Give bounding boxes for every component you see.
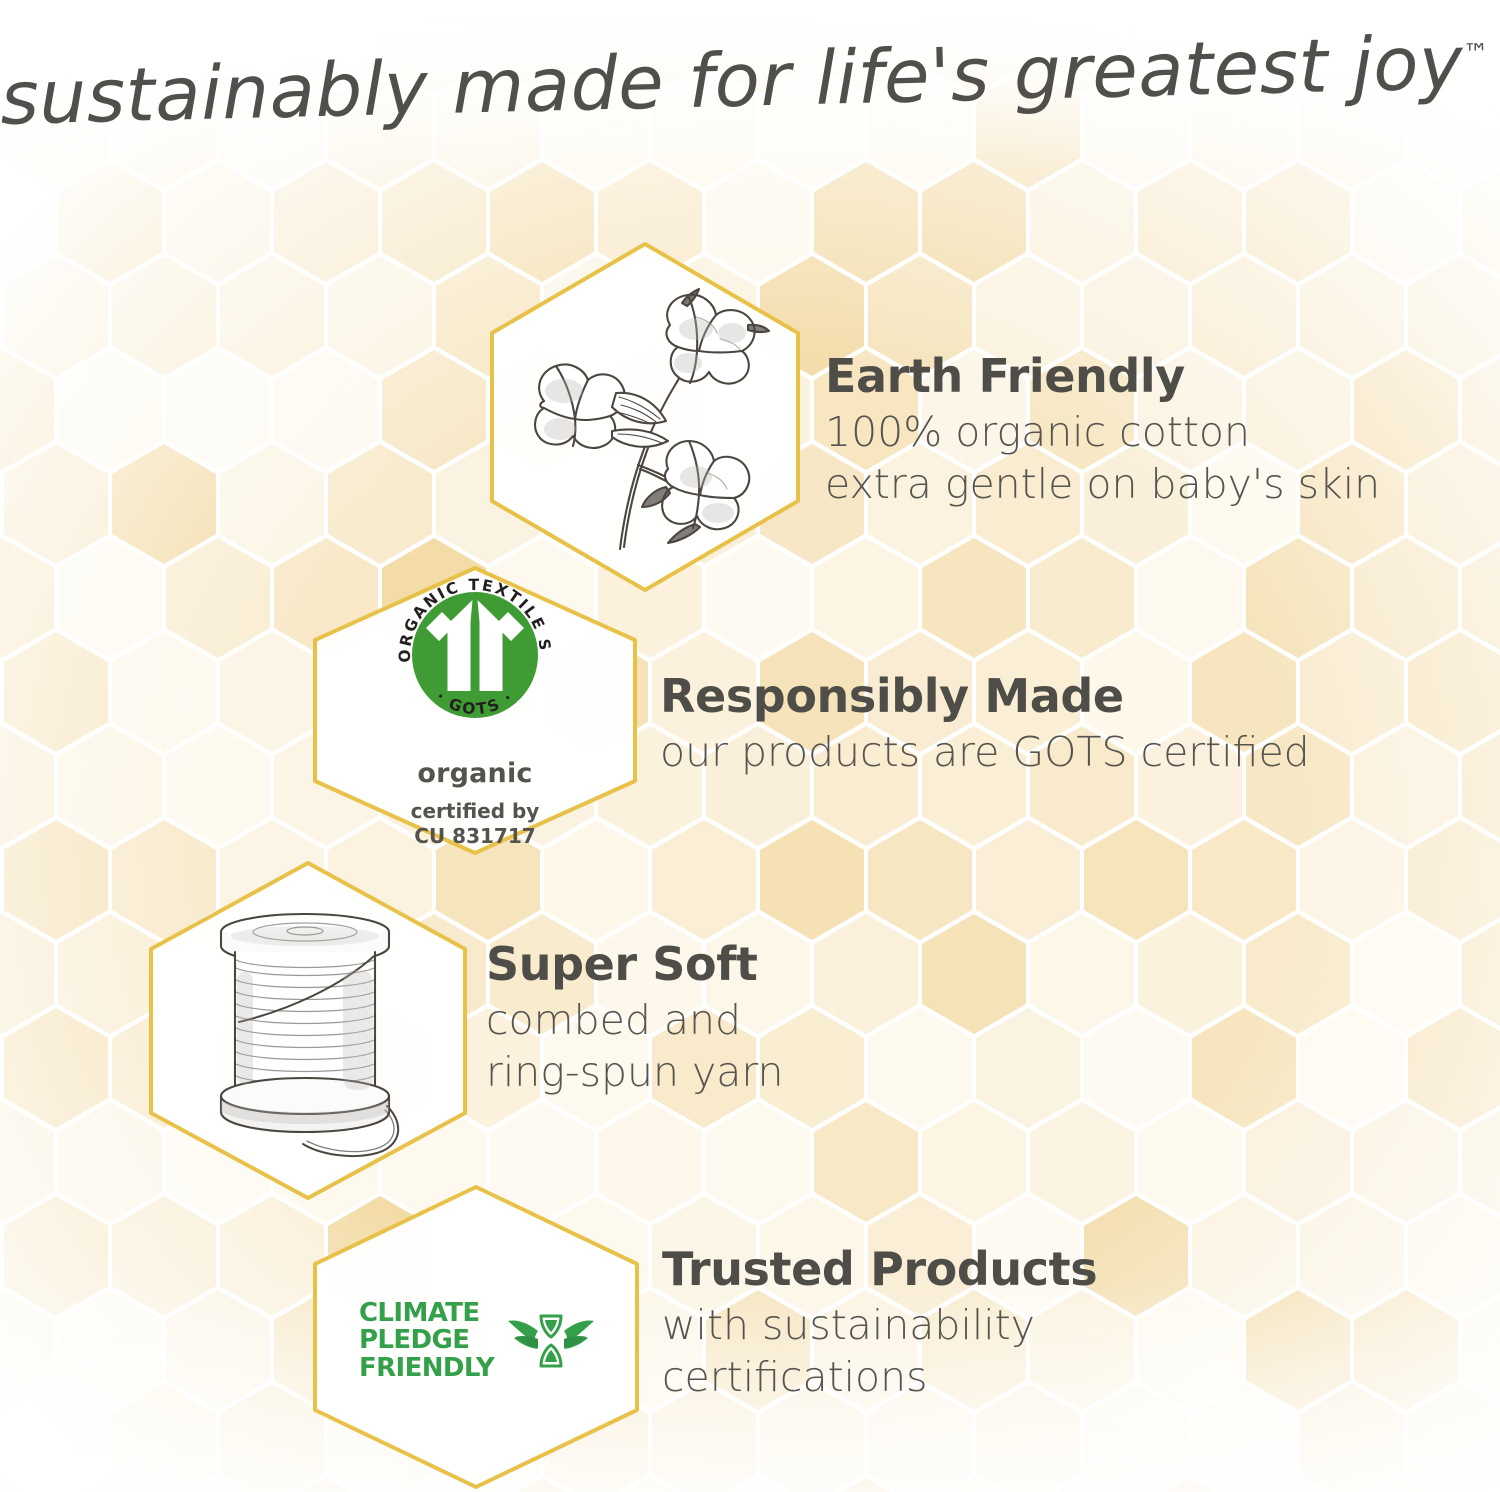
honeycomb-cell — [4, 820, 108, 940]
honeycomb-cell — [4, 256, 108, 376]
feature-title: Trusted Products — [662, 1245, 1097, 1295]
feature-line: ring-spun yarn — [486, 1046, 784, 1098]
climate-pledge-line-3: FRIENDLY — [359, 1355, 494, 1383]
gots-license-number: CU 831717 — [411, 824, 540, 849]
gots-organic-label: organic — [417, 758, 532, 789]
honeycomb-cell — [1354, 726, 1458, 846]
honeycomb-cell — [1084, 1196, 1188, 1316]
honeycomb-cell — [4, 444, 108, 564]
honeycomb-cell — [382, 162, 486, 282]
feature-text-responsibly-made: Responsibly Made our products are GOTS c… — [660, 672, 1310, 778]
honeycomb-cell — [1138, 1290, 1242, 1410]
honeycomb-cell — [922, 1102, 1026, 1222]
feature-line: extra gentle on baby's skin — [825, 458, 1380, 510]
honeycomb-cell — [1408, 820, 1500, 940]
honeycomb-cell — [1408, 444, 1500, 564]
honeycomb-cell — [1408, 632, 1500, 752]
honeycomb-cell — [1030, 914, 1134, 1034]
honeycomb-cell — [220, 256, 324, 376]
honeycomb-cell — [166, 538, 270, 658]
feature-line: our products are GOTS certified — [660, 726, 1310, 778]
thread-spool-illustration — [191, 900, 427, 1162]
cotton-branch-illustration — [520, 281, 770, 553]
honeycomb-cell — [1246, 162, 1350, 282]
honeycomb-cell — [166, 162, 270, 282]
honeycomb-cell — [1354, 1290, 1458, 1410]
honeycomb-cell — [1138, 1102, 1242, 1222]
feature-title: Super Soft — [486, 940, 784, 990]
feature-line: combed and — [486, 994, 784, 1046]
honeycomb-cell — [1246, 538, 1350, 658]
honeycomb-cell — [166, 726, 270, 846]
honeycomb-cell — [220, 632, 324, 752]
honeycomb-cell — [112, 444, 216, 564]
honeycomb-cell — [274, 162, 378, 282]
honeycomb-cell — [58, 1290, 162, 1410]
honeycomb-cell — [1354, 914, 1458, 1034]
feature-text-super-soft: Super Soft combed and ring-spun yarn — [486, 940, 784, 1099]
honeycomb-cell — [922, 538, 1026, 658]
feature-text-trusted-products: Trusted Products with sustainability cer… — [662, 1245, 1097, 1404]
climate-pledge-friendly-logo: CLIMATE PLEDGE FRIENDLY — [359, 1300, 594, 1383]
honeycomb-cell — [1192, 820, 1296, 940]
honeycomb-cell — [1408, 1196, 1500, 1316]
honeycomb-cell — [1408, 1008, 1500, 1128]
honeycomb-cell — [4, 1384, 108, 1492]
honeycomb-cell — [1354, 162, 1458, 282]
honeycomb-cell — [1084, 1008, 1188, 1128]
honeycomb-cell — [220, 1196, 324, 1316]
honeycomb-cell — [58, 726, 162, 846]
honeycomb-cell — [814, 914, 918, 1034]
honeycomb-cell — [328, 256, 432, 376]
honeycomb-cell — [274, 350, 378, 470]
honeycomb-cell — [1030, 538, 1134, 658]
honeycomb-cell — [112, 632, 216, 752]
honeycomb-cell — [652, 820, 756, 940]
honeycomb-cell — [1246, 914, 1350, 1034]
honeycomb-cell — [976, 1008, 1080, 1128]
gots-certified-by-label: certified by — [411, 799, 540, 824]
honeycomb-cell — [1192, 1008, 1296, 1128]
honeycomb-cell — [1300, 1384, 1404, 1492]
feature-hex-responsibly-made: GLOBAL ORGANIC TEXTILE STANDARD · GOTS ·… — [310, 563, 640, 858]
honeycomb-cell — [706, 1102, 810, 1222]
feature-hex-super-soft — [145, 858, 472, 1203]
honeycomb-cell — [1300, 820, 1404, 940]
feature-title: Responsibly Made — [660, 672, 1310, 722]
feature-hex-trusted-products: CLIMATE PLEDGE FRIENDLY — [310, 1182, 643, 1492]
honeycomb-cell — [1408, 256, 1500, 376]
honeycomb-cell — [58, 538, 162, 658]
feature-hex-earth-friendly — [484, 238, 806, 596]
winged-hourglass-icon — [508, 1311, 594, 1371]
honeycomb-cell — [868, 820, 972, 940]
honeycomb-cell — [220, 444, 324, 564]
honeycomb-cell — [58, 162, 162, 282]
honeycomb-cell — [1300, 632, 1404, 752]
honeycomb-cell — [1030, 1102, 1134, 1222]
honeycomb-cell — [382, 350, 486, 470]
honeycomb-cell — [922, 914, 1026, 1034]
honeycomb-cell — [166, 350, 270, 470]
honeycomb-cell — [976, 820, 1080, 940]
honeycomb-cell — [1192, 1196, 1296, 1316]
climate-pledge-line-2: PLEDGE — [359, 1327, 494, 1355]
honeycomb-cell — [1138, 162, 1242, 282]
honeycomb-cell — [4, 1008, 108, 1128]
honeycomb-cell — [328, 444, 432, 564]
honeycomb-cell — [112, 256, 216, 376]
honeycomb-cell — [1192, 1384, 1296, 1492]
honeycomb-cell — [1138, 538, 1242, 658]
honeycomb-cell — [1246, 1102, 1350, 1222]
honeycomb-cell — [1084, 1384, 1188, 1492]
honeycomb-cell — [868, 1008, 972, 1128]
honeycomb-cell — [1138, 914, 1242, 1034]
gots-certification-logo: GLOBAL ORGANIC TEXTILE STANDARD · GOTS ·… — [384, 564, 566, 849]
honeycomb-cell — [1246, 1290, 1350, 1410]
trademark-symbol: ™ — [1463, 39, 1490, 70]
feature-text-earth-friendly: Earth Friendly 100% organic cotton extra… — [825, 352, 1380, 511]
honeycomb-cell — [220, 1384, 324, 1492]
promo-infographic: sustainably made for life's greatest joy… — [0, 0, 1500, 1492]
feature-line: with sustainability — [662, 1299, 1097, 1351]
honeycomb-cell — [58, 350, 162, 470]
honeycomb-cell — [814, 1102, 918, 1222]
climate-pledge-line-1: CLIMATE — [359, 1300, 494, 1328]
feature-title: Earth Friendly — [825, 352, 1380, 402]
honeycomb-cell — [1084, 820, 1188, 940]
honeycomb-cell — [1300, 1196, 1404, 1316]
honeycomb-cell — [814, 538, 918, 658]
feature-line: certifications — [662, 1351, 1097, 1403]
honeycomb-cell — [166, 1290, 270, 1410]
honeycomb-cell — [1030, 162, 1134, 282]
honeycomb-cell — [1300, 1008, 1404, 1128]
feature-line: 100% organic cotton — [825, 406, 1380, 458]
gots-seal-icon: GLOBAL ORGANIC TEXTILE STANDARD · GOTS · — [384, 564, 566, 746]
honeycomb-cell — [4, 632, 108, 752]
honeycomb-cell — [1354, 1102, 1458, 1222]
honeycomb-cell — [760, 820, 864, 940]
honeycomb-cell — [112, 1196, 216, 1316]
honeycomb-cell — [814, 162, 918, 282]
honeycomb-cell — [1354, 538, 1458, 658]
honeycomb-cell — [4, 1196, 108, 1316]
honeycomb-cell — [922, 162, 1026, 282]
honeycomb-cell — [112, 1384, 216, 1492]
